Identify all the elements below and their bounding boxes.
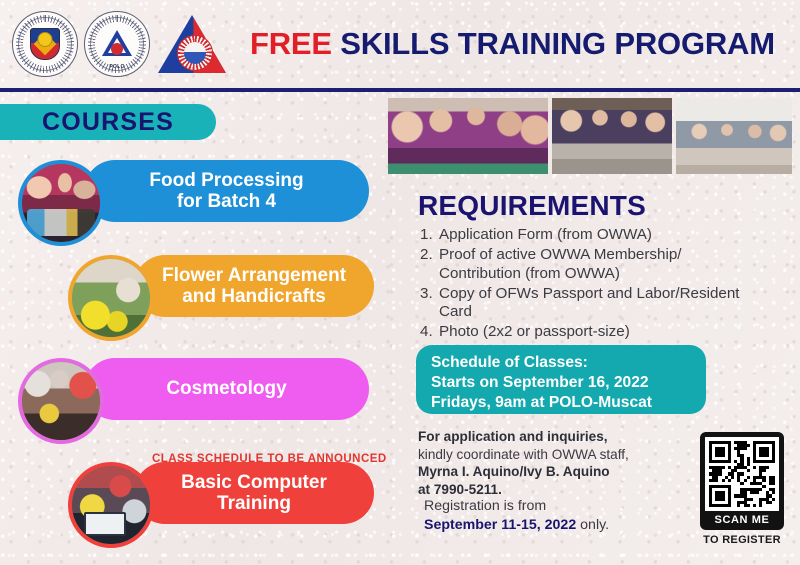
contact-line-2: kindly coordinate with OWWA staff, — [418, 446, 698, 464]
requirement-number: 1. — [420, 226, 439, 245]
contact-block: For application and inquiries, kindly co… — [418, 428, 698, 499]
requirement-item: 1. Application Form (from OWWA) — [420, 226, 750, 245]
registration-suffix: only. — [576, 517, 609, 533]
course-thumb-food-processing — [18, 160, 104, 246]
page-title: FREE SKILLS TRAINING PROGRAM — [250, 26, 775, 62]
requirements-title: REQUIREMENTS — [418, 190, 646, 222]
qr-code-icon[interactable] — [705, 437, 779, 511]
to-register-label: TO REGISTER — [700, 534, 784, 546]
course-title-line2-3: Training — [181, 493, 327, 514]
contact-line-1: For application and inquiries, — [418, 428, 698, 446]
requirement-text: Proof of active OWWA Membership/ Contrib… — [439, 246, 750, 284]
course-pill-food-processing[interactable]: Food Processing for Batch 4 — [84, 160, 369, 222]
requirement-number: 3. — [420, 285, 439, 323]
embassy-of-the-philippines-seal-icon — [12, 11, 78, 77]
requirement-number: 2. — [420, 246, 439, 284]
courses-banner-label: COURSES — [42, 108, 174, 137]
photo-strip — [388, 98, 792, 174]
requirement-item: 4. Photo (2x2 or passport-size) — [420, 323, 750, 342]
requirement-text: Application Form (from OWWA) — [439, 226, 652, 245]
course-title-line2-1: and Handicrafts — [162, 286, 346, 307]
course-thumb-flower-arrangement — [68, 255, 154, 341]
tesda-triangle-logo-icon — [156, 13, 232, 75]
qr-code-block[interactable]: SCAN ME TO REGISTER — [700, 432, 792, 546]
requirement-text: Copy of OFWs Passport and Labor/Resident… — [439, 285, 750, 323]
photo-food-processing-class — [388, 98, 548, 174]
course-item-flower-arrangement[interactable]: Flower Arrangement and Handicrafts — [68, 255, 374, 317]
courses-section-banner: COURSES — [0, 104, 216, 140]
schedule-line-3: Fridays, 9am at POLO-Muscat — [431, 393, 706, 413]
polo-seal-label: POLO — [85, 64, 149, 70]
requirement-number: 4. — [420, 323, 439, 342]
registration-block: Registration is from September 11-15, 20… — [424, 497, 694, 534]
title-free-word: FREE — [250, 26, 332, 61]
course-title-line1-1: Flower Arrangement — [162, 265, 346, 286]
requirements-list: 1. Application Form (from OWWA) 2. Proof… — [420, 226, 750, 343]
contact-line-3: Myrna I. Aquino/Ivy B. Aquino — [418, 463, 698, 481]
polo-embassy-seal-icon: POLO — [84, 11, 150, 77]
poster-canvas: POLO FREE SKILLS TRAINING PROGRAM COURSE… — [0, 0, 800, 565]
course-pill-basic-computer-training[interactable]: Basic Computer Training — [134, 462, 374, 524]
course-title-line1-2: Cosmetology — [166, 378, 286, 399]
registration-dates: September 11-15, 2022 — [424, 517, 576, 533]
course-title-line1-3: Basic Computer — [181, 472, 327, 493]
registration-line-1: Registration is from — [424, 497, 694, 516]
course-title-line2-0: for Batch 4 — [149, 191, 303, 212]
poster-header: POLO FREE SKILLS TRAINING PROGRAM — [0, 0, 800, 88]
photo-graduates-with-trays — [552, 98, 672, 174]
logo-group: POLO — [0, 11, 232, 77]
course-thumb-basic-computer-training — [68, 462, 154, 548]
requirement-item: 2. Proof of active OWWA Membership/ Cont… — [420, 246, 750, 284]
schedule-of-classes-box: Schedule of Classes: Starts on September… — [416, 345, 706, 414]
photo-group-class — [676, 98, 792, 174]
schedule-line-2: Starts on September 16, 2022 — [431, 373, 706, 393]
requirement-text: Photo (2x2 or passport-size) — [439, 323, 630, 342]
requirement-item: 3. Copy of OFWs Passport and Labor/Resid… — [420, 285, 750, 323]
course-pill-cosmetology[interactable]: Cosmetology — [84, 358, 369, 420]
course-item-basic-computer-training[interactable]: Basic Computer Training — [68, 462, 374, 524]
title-rest: SKILLS TRAINING PROGRAM — [332, 26, 775, 61]
course-thumb-cosmetology — [18, 358, 104, 444]
scan-me-label: SCAN ME — [705, 511, 779, 530]
header-divider — [0, 88, 800, 92]
course-title-line1-0: Food Processing — [149, 170, 303, 191]
qr-card[interactable]: SCAN ME — [700, 432, 784, 530]
course-item-cosmetology[interactable]: Cosmetology — [18, 358, 369, 420]
course-pill-flower-arrangement[interactable]: Flower Arrangement and Handicrafts — [134, 255, 374, 317]
schedule-line-1: Schedule of Classes: — [431, 353, 706, 373]
course-item-food-processing[interactable]: Food Processing for Batch 4 — [18, 160, 369, 222]
